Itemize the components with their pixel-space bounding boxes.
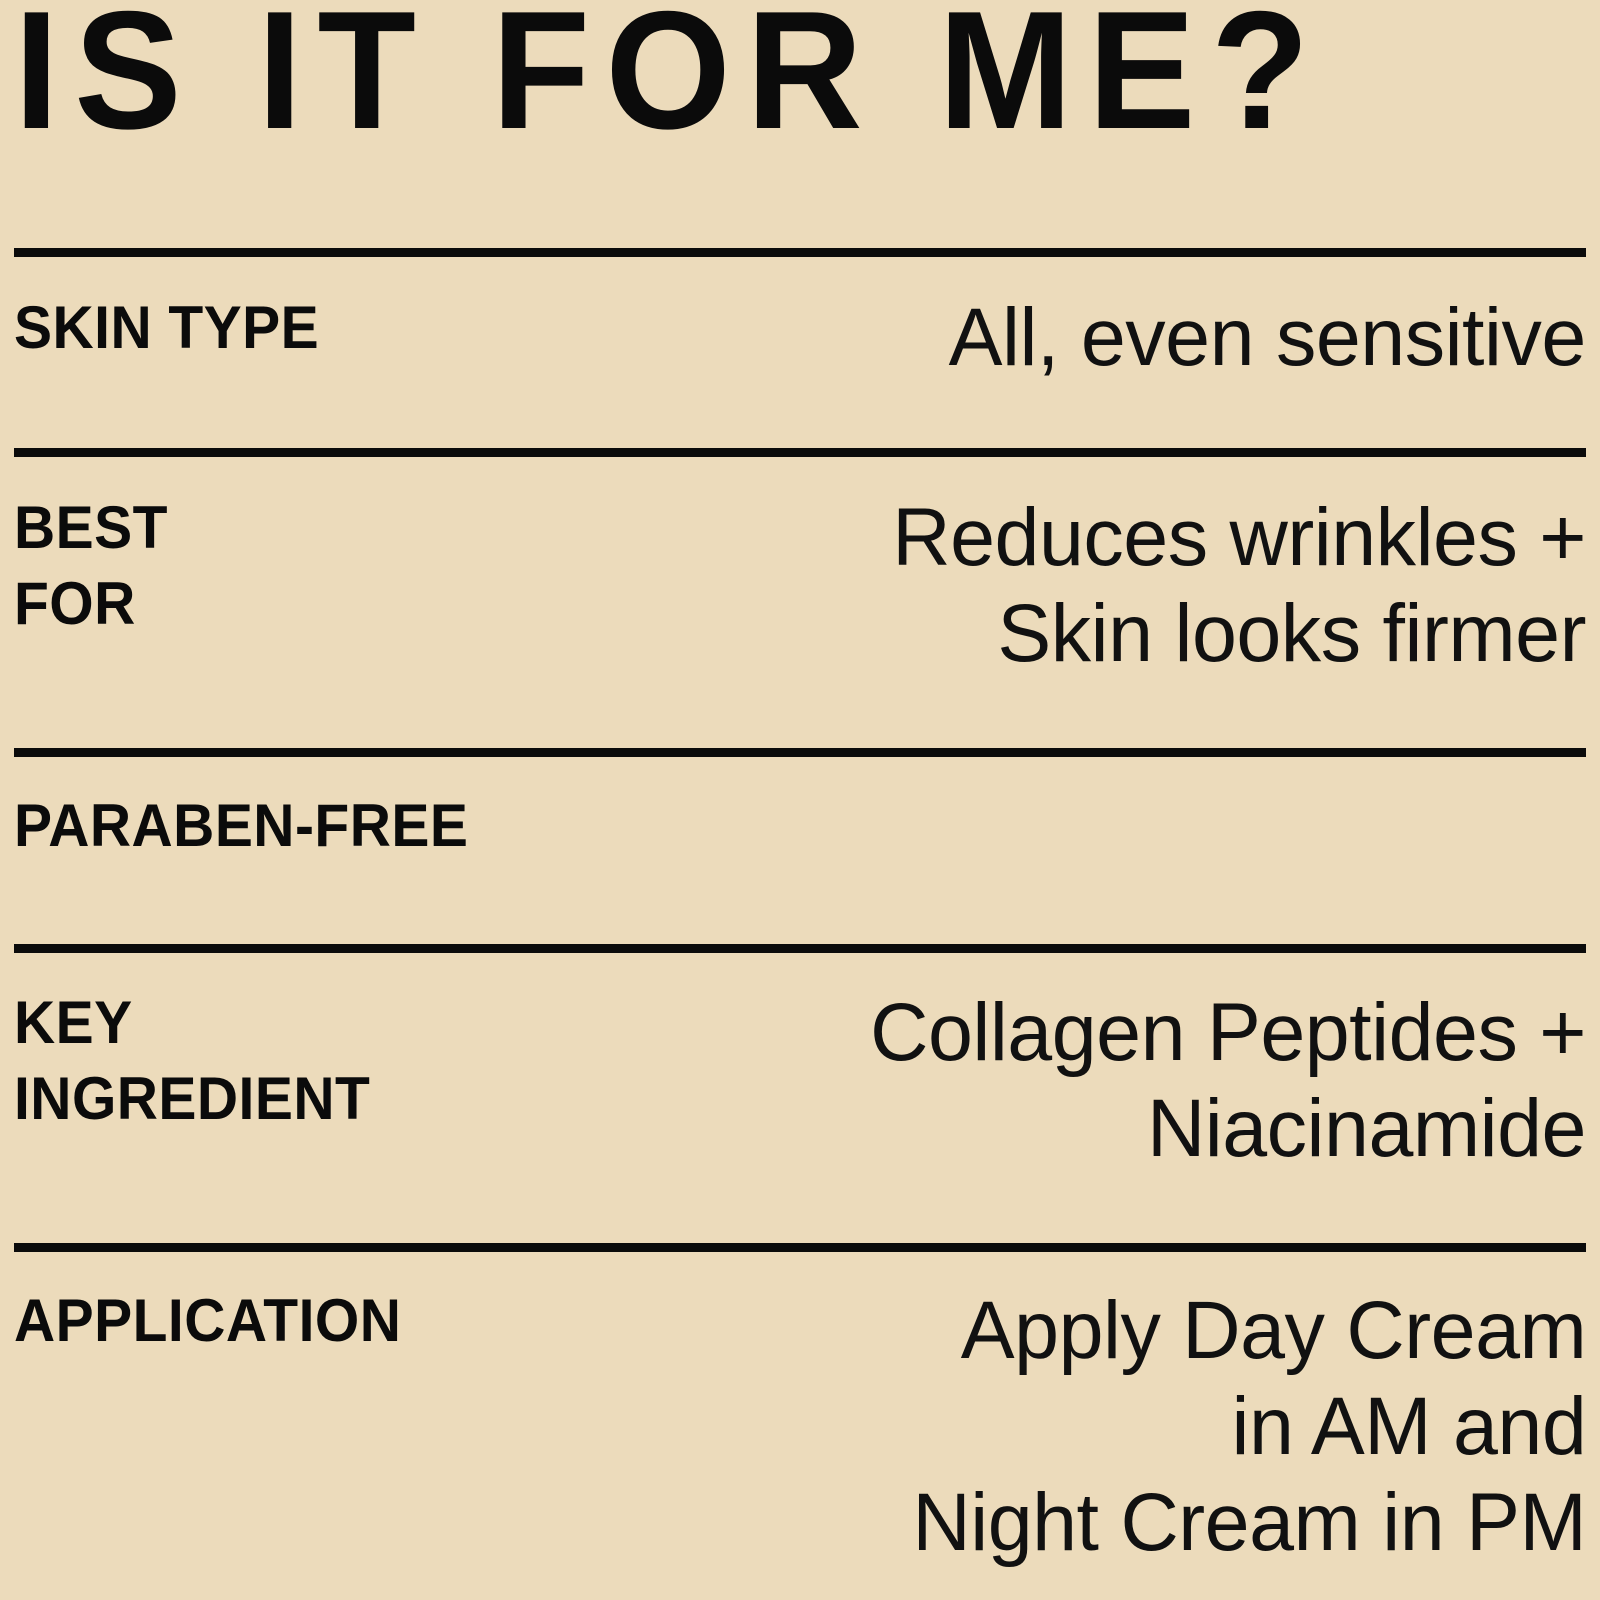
spec-row-application: APPLICATION Apply Day Cream in AM and Ni…: [0, 1283, 1600, 1571]
row-divider: [14, 248, 1586, 257]
spec-row-key-ingredient: KEY INGREDIENT Collagen Peptides + Niaci…: [0, 985, 1600, 1177]
row-divider: [14, 448, 1586, 457]
spec-value-application: Apply Day Cream in AM and Night Cream in…: [439, 1283, 1586, 1571]
spec-label-application: APPLICATION: [14, 1283, 401, 1359]
spec-row-skin-type: SKIN TYPE All, even sensitive: [0, 290, 1600, 386]
page-title: IS IT FOR ME?: [14, 0, 1531, 154]
spec-row-best-for: BEST FOR Reduces wrinkles + Skin looks f…: [0, 490, 1600, 682]
spec-label-paraben-free: PARABEN-FREE: [14, 788, 468, 864]
row-divider: [14, 748, 1586, 757]
spec-value-key-ingredient: Collagen Peptides + Niacinamide: [407, 985, 1586, 1177]
spec-value-best-for: Reduces wrinkles + Skin looks firmer: [197, 490, 1586, 682]
spec-value-paraben-free: [509, 788, 1586, 789]
product-info-card: IS IT FOR ME? SKIN TYPE All, even sensit…: [0, 0, 1600, 1600]
spec-label-key-ingredient: KEY INGREDIENT: [14, 985, 370, 1137]
spec-row-paraben-free: PARABEN-FREE: [0, 788, 1600, 864]
spec-value-skin-type: All, even sensitive: [354, 290, 1586, 386]
row-divider: [14, 1243, 1586, 1252]
spec-label-best-for: BEST FOR: [14, 490, 168, 642]
spec-label-skin-type: SKIN TYPE: [14, 290, 319, 366]
row-divider: [14, 944, 1586, 953]
